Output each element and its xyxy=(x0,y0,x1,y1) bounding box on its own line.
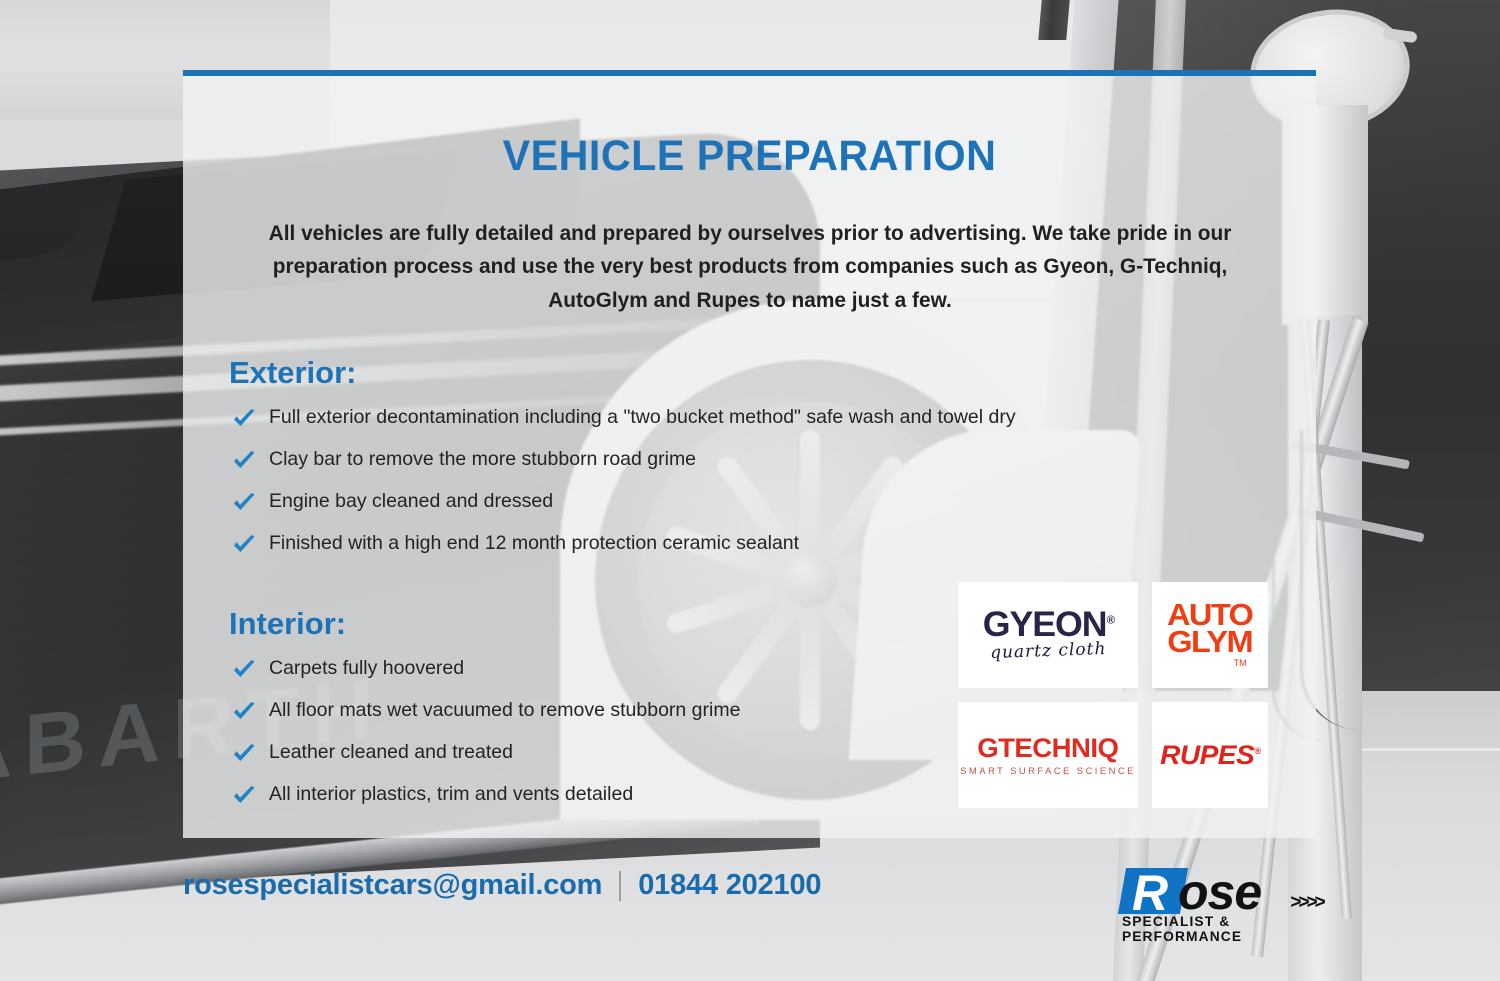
check-icon xyxy=(231,448,257,474)
list-item-label: Leather cleaned and treated xyxy=(269,740,513,764)
exterior-checklist: Full exterior decontamination including … xyxy=(231,405,1316,558)
page-title: VEHICLE PREPARATION xyxy=(206,132,1294,181)
brand-tile-gtechniq: GTECHNIQ SMART SURFACE SCIENCE xyxy=(958,702,1138,808)
gtechniq-wordmark: GTECHNIQ xyxy=(958,733,1137,764)
autoglym-tm-mark: TM xyxy=(1169,660,1250,668)
rose-company-logo: R ose >>>> SPECIALIST & PERFORMANCE xyxy=(1122,866,1330,916)
brand-tile-autoglym: AUTO GLYM TM xyxy=(1152,582,1268,688)
list-item-label: Carpets fully hoovered xyxy=(269,656,464,680)
list-item-label: All floor mats wet vacuumed to remove st… xyxy=(269,698,740,722)
rupes-wordmark: RUPES® xyxy=(1160,740,1261,771)
intro-paragraph: All vehicles are fully detailed and prep… xyxy=(260,217,1240,317)
contact-email[interactable]: rosespecialistcars@gmail.com xyxy=(183,869,602,902)
list-item-label: Clay bar to remove the more stubborn roa… xyxy=(269,447,696,471)
rupes-registered-mark: ® xyxy=(1254,746,1260,756)
list-item-label: Finished with a high end 12 month protec… xyxy=(269,531,799,555)
list-item-label: All interior plastics, trim and vents de… xyxy=(269,782,633,806)
gtechniq-tagline: SMART SURFACE SCIENCE xyxy=(960,766,1136,777)
brand-row-bottom: GTECHNIQ SMART SURFACE SCIENCE RUPES® xyxy=(958,702,1280,808)
check-icon xyxy=(231,783,257,809)
list-item-label: Engine bay cleaned and dressed xyxy=(269,489,553,513)
rose-logo-speed-lines: >>>> xyxy=(1290,892,1322,914)
content-card: VEHICLE PREPARATION All vehicles are ful… xyxy=(183,70,1316,838)
brand-logo-grid: GYEON® quartz cloth AUTO GLYM TM GTECHNI… xyxy=(958,582,1280,822)
list-item: Finished with a high end 12 month protec… xyxy=(231,531,1316,558)
check-icon xyxy=(231,699,257,725)
contact-divider xyxy=(619,871,621,901)
rose-logo-wordmark: ose xyxy=(1178,863,1261,921)
brand-row-top: GYEON® quartz cloth AUTO GLYM TM xyxy=(958,582,1280,688)
contact-phone[interactable]: 01844 202100 xyxy=(638,869,821,902)
poster-canvas: ABARTH xyxy=(0,0,1500,981)
check-icon xyxy=(231,490,257,516)
gyeon-registered-mark: ® xyxy=(1106,614,1113,626)
brand-tile-rupes: RUPES® xyxy=(1152,702,1268,808)
list-item: Full exterior decontamination including … xyxy=(231,405,1316,432)
list-item: Engine bay cleaned and dressed xyxy=(231,489,1316,516)
section-heading-exterior: Exterior: xyxy=(229,355,1316,391)
list-item: Clay bar to remove the more stubborn roa… xyxy=(231,447,1316,474)
brand-tile-gyeon: GYEON® quartz cloth xyxy=(958,582,1138,688)
footer-contact: rosespecialistcars@gmail.com 01844 20210… xyxy=(183,869,821,902)
check-icon xyxy=(231,657,257,683)
gyeon-tagline: quartz cloth xyxy=(983,639,1112,663)
check-icon xyxy=(231,741,257,767)
check-icon xyxy=(231,532,257,558)
check-icon xyxy=(231,406,257,432)
autoglym-wordmark-line2: GLYM xyxy=(1167,629,1252,656)
list-item-label: Full exterior decontamination including … xyxy=(269,405,1016,429)
rose-logo-subtitle: SPECIALIST & PERFORMANCE xyxy=(1122,914,1332,944)
